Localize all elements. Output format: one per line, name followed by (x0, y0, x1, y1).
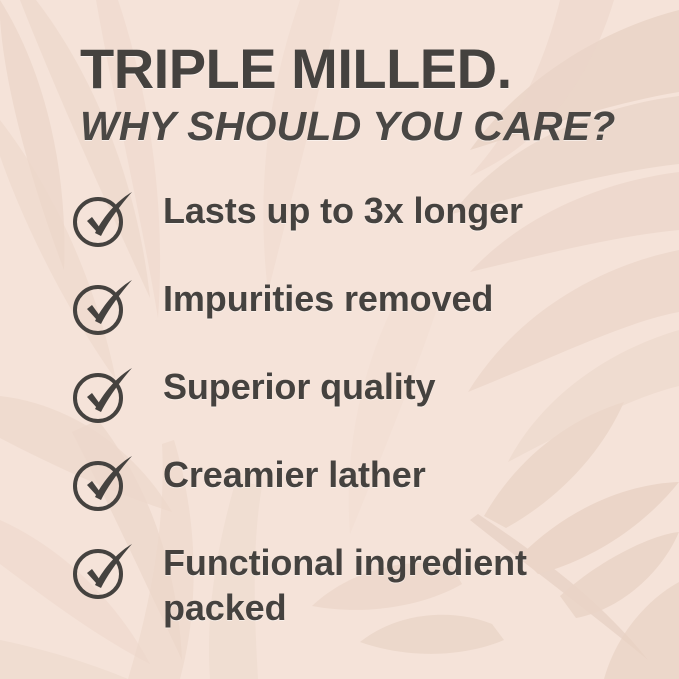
list-item: Impurities removed (0, 274, 679, 362)
check-circle-icon (70, 276, 140, 338)
benefit-label: Functional ingredient packed (163, 538, 583, 630)
page-subtitle: WHY SHOULD YOU CARE? (80, 104, 616, 148)
benefit-label: Creamier lather (163, 450, 679, 497)
list-item: Creamier lather (0, 450, 679, 538)
check-circle-icon (70, 452, 140, 514)
benefit-label: Lasts up to 3x longer (163, 186, 679, 233)
triple-milled-infographic: TRIPLE MILLED. WHY SHOULD YOU CARE? Last… (0, 0, 679, 679)
check-circle-icon (70, 364, 140, 426)
list-item: Lasts up to 3x longer (0, 186, 679, 274)
list-item: Functional ingredient packed (0, 538, 679, 626)
benefit-label: Impurities removed (163, 274, 679, 321)
benefit-list: Lasts up to 3x longer Impurities removed… (0, 186, 679, 626)
check-circle-icon (70, 188, 140, 250)
list-item: Superior quality (0, 362, 679, 450)
benefit-label: Superior quality (163, 362, 679, 409)
page-title: TRIPLE MILLED. (80, 40, 512, 98)
check-circle-icon (70, 540, 140, 602)
